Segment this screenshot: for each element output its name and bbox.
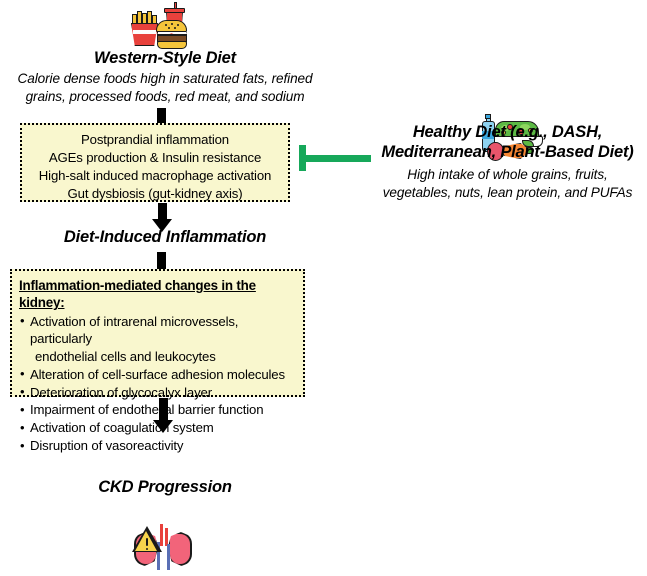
flow-arrow-inflammation-to-kidneybox bbox=[157, 252, 166, 270]
flow-arrow-western-to-mechanism bbox=[157, 108, 166, 124]
warning-triangle-icon bbox=[132, 526, 162, 553]
renal-vein-branch-icon bbox=[167, 544, 170, 570]
kidney-warning-icon bbox=[131, 524, 197, 576]
list-item: Disruption of vasoreactivity bbox=[19, 437, 296, 454]
fast-food-icon bbox=[129, 2, 203, 48]
mechanism-line-2: AGEs production & Insulin resistance bbox=[22, 149, 288, 167]
bullet-text: Activation of intrarenal microvessels, p… bbox=[30, 314, 238, 346]
mechanism-line-4: Gut dysbiosis (gut-kidney axis) bbox=[22, 185, 288, 203]
bullet-continuation: endothelial cells and leukocytes bbox=[30, 348, 296, 365]
kidney-right-icon bbox=[168, 532, 192, 566]
list-item: Alteration of cell-surface adhesion mole… bbox=[19, 366, 296, 383]
burger-icon bbox=[156, 20, 187, 48]
healthy-diet-heading-line1: Healthy Diet (e.g., DASH, bbox=[368, 123, 647, 142]
western-diet-description-line2: grains, processed foods, red meat, and s… bbox=[0, 88, 330, 106]
ckd-progression-label: CKD Progression bbox=[0, 478, 330, 497]
mechanism-line-3: High-salt induced macrophage activation bbox=[22, 167, 288, 185]
healthy-diet-heading-line2: Mediterranean, Plant-Based Diet) bbox=[368, 143, 647, 162]
mechanism-box: Postprandial inflammation AGEs productio… bbox=[20, 123, 290, 202]
kidney-changes-title: Inflammation-mediated changes in the kid… bbox=[19, 277, 296, 312]
flow-arrow-kidneybox-to-ckd bbox=[151, 398, 175, 433]
inhibition-connector bbox=[299, 145, 371, 171]
healthy-diet-description-line1: High intake of whole grains, fruits, bbox=[368, 166, 647, 184]
list-item: Activation of intrarenal microvessels, p… bbox=[19, 313, 296, 365]
kidney-changes-box: Inflammation-mediated changes in the kid… bbox=[10, 269, 305, 397]
inhibition-stem bbox=[305, 155, 371, 162]
kidney-changes-list: Activation of intrarenal microvessels, p… bbox=[19, 313, 296, 455]
mechanism-line-1: Postprandial inflammation bbox=[22, 131, 288, 149]
diet-induced-inflammation-label: Diet-Induced Inflammation bbox=[0, 228, 330, 247]
healthy-diet-description-line2: vegetables, nuts, lean protein, and PUFA… bbox=[368, 184, 647, 202]
western-diet-description-line1: Calorie dense foods high in saturated fa… bbox=[0, 70, 330, 88]
western-diet-heading: Western-Style Diet bbox=[0, 49, 330, 68]
fries-icon bbox=[131, 11, 158, 46]
